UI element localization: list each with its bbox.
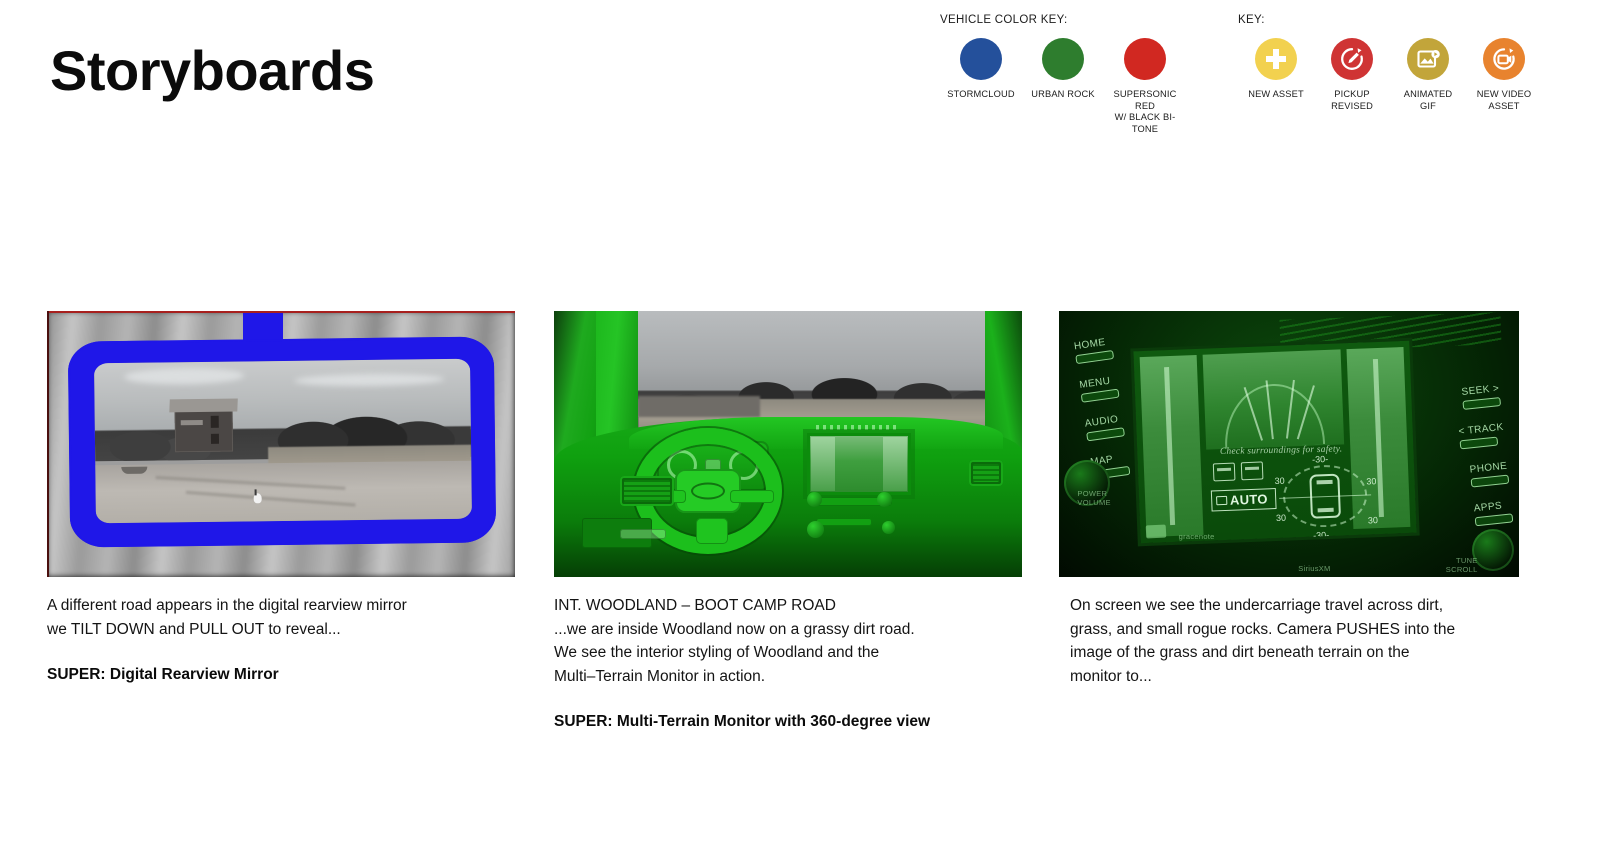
auto-mode-button[interactable]: AUTO [1211, 487, 1277, 510]
windshield-road [638, 396, 760, 417]
barn-siding [181, 420, 203, 425]
seek-button[interactable]: SEEK > [1461, 384, 1501, 411]
seek-button-label: SEEK > [1461, 384, 1500, 399]
apps-button-label: APPS [1474, 500, 1513, 515]
top-down-vehicle-widget: -30- 30 30 30 30 -30- [1276, 457, 1375, 535]
phone-button-bar[interactable] [1471, 475, 1510, 488]
tune-scroll-label: TUNE SCROLL [1446, 556, 1478, 574]
seek-button-bar[interactable] [1463, 397, 1502, 410]
legend-item-urban-rock: URBAN ROCK [1022, 38, 1104, 101]
audio-control-row[interactable] [816, 518, 872, 526]
degree-label-upper-right: 30 [1366, 476, 1376, 486]
home-button[interactable]: HOME [1074, 336, 1115, 364]
home-button-bar[interactable] [1076, 350, 1115, 364]
tune-knob[interactable] [882, 521, 895, 534]
barn-window [211, 416, 219, 428]
vent-slats [624, 480, 670, 502]
post-marker [254, 493, 262, 503]
camera-view-left [1139, 354, 1204, 536]
camera-streak [1164, 366, 1175, 525]
panel-caption: INT. WOODLAND – BOOT CAMP ROAD ...we are… [554, 594, 1022, 688]
camera-streak [1373, 358, 1384, 517]
vent-slats [973, 464, 999, 482]
menu-button-label: MENU [1079, 374, 1118, 390]
camera-mode-icons[interactable] [1212, 461, 1263, 481]
steering-spoke-bottom [696, 518, 728, 544]
image-play-icon [1407, 38, 1449, 80]
rear-camera-icon[interactable] [1240, 461, 1263, 480]
panel-multi-terrain-monitor: Check surroundings for safety. AUTO -30- [1059, 311, 1519, 710]
degree-label-upper-left: 30 [1275, 475, 1285, 485]
asset-key: KEY: NEW ASSET [1238, 14, 1542, 112]
infotainment-display[interactable]: Check surroundings for safety. AUTO -30- [1134, 340, 1417, 542]
key-item-pickup-revised: PICKUP REVISED [1314, 38, 1390, 112]
frame-top-rule [47, 311, 515, 313]
phone-button[interactable]: PHONE [1470, 461, 1510, 488]
panel-woodland-interior: INT. WOODLAND – BOOT CAMP ROAD ...we are… [554, 311, 1022, 733]
frame-left-rule [47, 311, 49, 577]
track-button-bar[interactable] [1460, 437, 1499, 450]
camera-view-undercarriage [1203, 349, 1345, 450]
asset-key-heading: KEY: [1238, 14, 1542, 26]
audio-button[interactable]: AUDIO [1084, 413, 1125, 441]
frame-woodland-interior [554, 311, 1022, 577]
key-item-new-video-asset: NEW VIDEO ASSET [1466, 38, 1542, 112]
swatch-label-urban-rock: URBAN ROCK [1031, 89, 1095, 101]
swatch-label-stormcloud: STORMCLOUD [947, 89, 1014, 101]
auto-button-label: AUTO [1230, 491, 1268, 507]
frame-digital-rearview-mirror [47, 311, 515, 577]
volume-knob[interactable] [807, 521, 824, 538]
front-camera-icon[interactable] [1212, 462, 1235, 481]
control-knob-left[interactable] [807, 492, 822, 507]
frame-multi-terrain-monitor: Check surroundings for safety. AUTO -30- [1059, 311, 1519, 577]
power-volume-label: POWER VOLUME [1077, 489, 1110, 507]
key-item-new-asset: NEW ASSET [1238, 38, 1314, 101]
panel-caption: A different road appears in the digital … [47, 594, 515, 641]
door-switch-bank[interactable] [620, 529, 666, 539]
audio-brand-badge [1146, 525, 1167, 539]
panel-super: SUPER: Digital Rearview Mirror [47, 663, 515, 686]
legend-item-stormcloud: STORMCLOUD [940, 38, 1022, 101]
audio-button-label: AUDIO [1084, 413, 1123, 429]
key-item-animated-gif: ANIMATED GIF [1390, 38, 1466, 112]
panel-super: SUPER: Multi-Terrain Monitor with 360-de… [554, 710, 1022, 733]
dashboard-trim-strip [816, 425, 900, 430]
swatch-label-supersonic-red: SUPERSONIC RED W/ BLACK BI-TONE [1104, 89, 1186, 135]
legend-area: VEHICLE COLOR KEY: STORMCLOUD URBAN ROCK… [940, 14, 1542, 135]
barn-building [175, 410, 234, 453]
pencil-refresh-icon [1331, 38, 1373, 80]
mirror-glass [94, 359, 472, 524]
center-infotainment-screen[interactable] [807, 433, 911, 495]
screen-camera-left [811, 437, 835, 491]
boat [121, 467, 147, 474]
auto-tag-icon [1216, 495, 1227, 504]
vehicle-color-key-heading: VEHICLE COLOR KEY: [940, 14, 1186, 26]
video-refresh-icon [1483, 38, 1525, 80]
track-button-label: < TRACK [1458, 422, 1504, 438]
vehicle-color-key: VEHICLE COLOR KEY: STORMCLOUD URBAN ROCK… [940, 14, 1186, 135]
speaker-brand-text: gracenote [1179, 532, 1215, 541]
key-label-animated-gif: ANIMATED GIF [1404, 89, 1453, 112]
degree-label-top: -30- [1312, 454, 1328, 465]
storyboard-page: Storyboards VEHICLE COLOR KEY: STORMCLOU… [0, 0, 1600, 867]
swatch-stormcloud [960, 38, 1002, 80]
satellite-radio-brand-text: SiriusXM [1298, 564, 1330, 573]
key-label-pickup-revised: PICKUP REVISED [1331, 89, 1373, 112]
track-button[interactable]: < TRACK [1458, 422, 1505, 450]
apps-button-bar[interactable] [1475, 514, 1514, 527]
phone-button-label: PHONE [1470, 461, 1509, 476]
swatch-urban-rock [1042, 38, 1084, 80]
control-knob-right[interactable] [877, 492, 892, 507]
audio-button-bar[interactable] [1086, 427, 1125, 441]
degree-label-lower-right: 30 [1368, 514, 1378, 524]
screen-camera-right [883, 437, 907, 491]
key-label-new-video-asset: NEW VIDEO ASSET [1477, 89, 1532, 112]
steering-spoke-right [730, 490, 774, 503]
menu-button[interactable]: MENU [1079, 374, 1120, 402]
page-title: Storyboards [50, 42, 374, 101]
legend-item-supersonic-red: SUPERSONIC RED W/ BLACK BI-TONE [1104, 38, 1186, 135]
panel-digital-rearview-mirror: A different road appears in the digital … [47, 311, 515, 686]
degree-label-lower-left: 30 [1276, 512, 1286, 522]
swatch-supersonic-red [1124, 38, 1166, 80]
panel-caption: On screen we see the undercarriage trave… [1070, 594, 1519, 688]
dirt-ground [95, 461, 472, 523]
air-vent-left[interactable] [620, 476, 674, 506]
key-label-new-asset: NEW ASSET [1248, 89, 1304, 101]
mirror-housing [68, 336, 496, 547]
apps-button[interactable]: APPS [1474, 500, 1514, 527]
plus-icon [1255, 38, 1297, 80]
air-vent-right[interactable] [969, 460, 1003, 486]
barn-window [211, 434, 219, 444]
menu-button-bar[interactable] [1081, 388, 1120, 402]
vehicle-top-view-icon [1309, 473, 1341, 518]
